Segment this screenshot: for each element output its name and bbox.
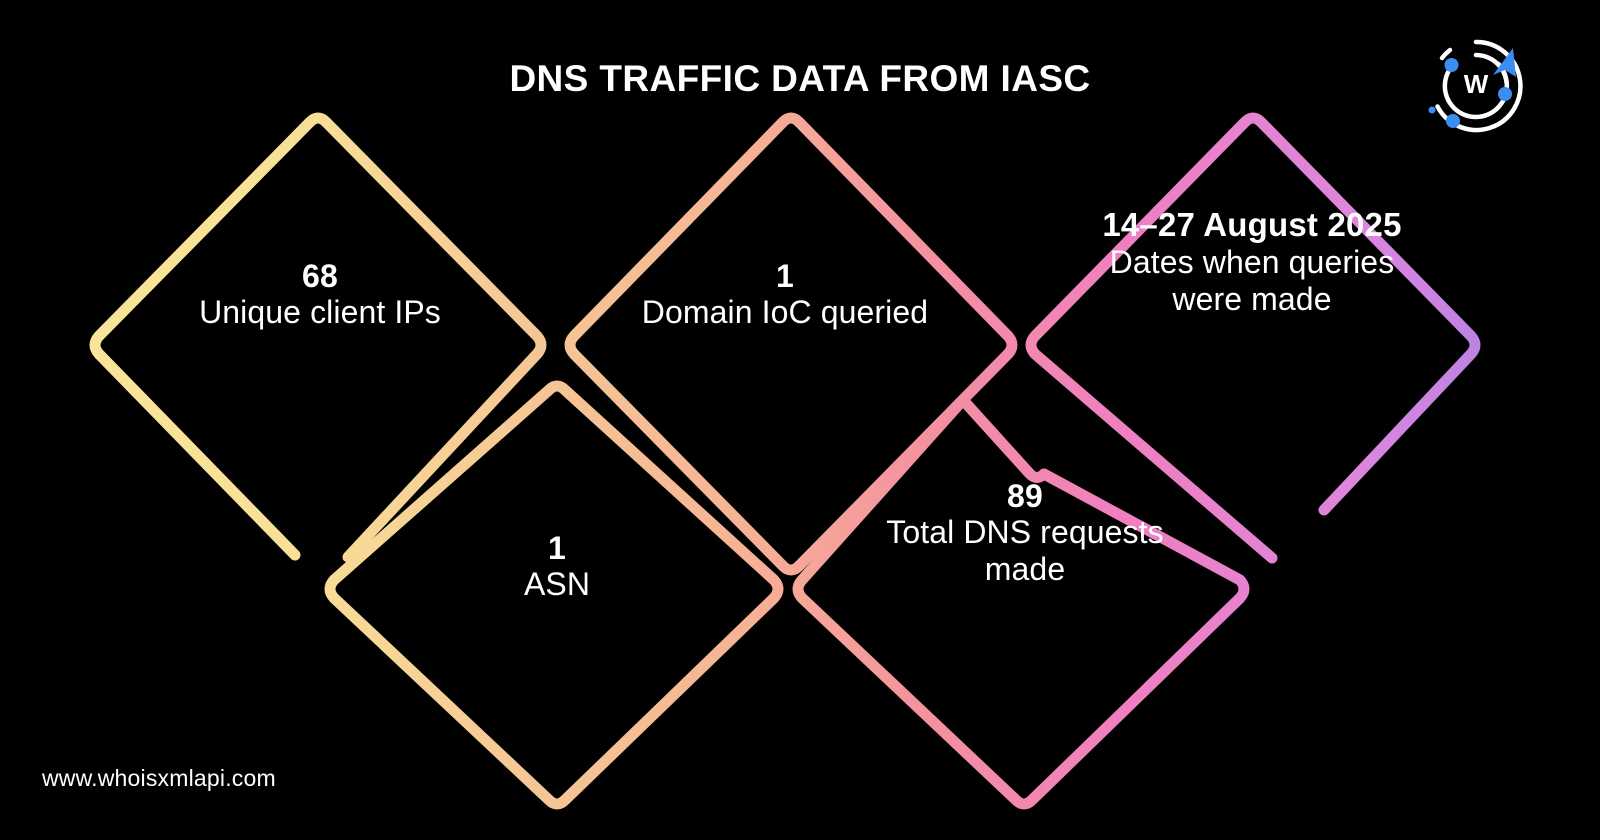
stat-dates-of-queries: 14–27 August 2025 Dates when queries wer… [1078,206,1426,317]
stat-value: 1 [610,258,960,294]
stat-label: Dates when queries were made [1078,244,1426,317]
stat-asn-count: 1 ASN [392,530,722,603]
stat-label: Total DNS requests made [860,514,1190,587]
stat-label: ASN [392,566,722,602]
stat-value: 14–27 August 2025 [1078,206,1426,244]
stat-domain-ioc-queried: 1 Domain IoC queried [610,258,960,331]
stat-label: Domain IoC queried [610,294,960,330]
stat-value: 89 [860,478,1190,514]
site-url: www.whoisxmlapi.com [42,765,276,792]
diamond-unique-client-ips [95,118,541,557]
stat-unique-client-ips: 68 Unique client IPs [140,258,500,331]
diamond-total-dns-requests [798,400,1244,804]
diamond-chain [0,0,1600,840]
stat-label: Unique client IPs [140,294,500,330]
stat-value: 1 [392,530,722,566]
stat-value: 68 [140,258,500,294]
infographic-canvas: DNS TRAFFIC DATA FROM IASC W [0,0,1600,840]
stat-total-dns-requests: 89 Total DNS requests made [860,478,1190,587]
